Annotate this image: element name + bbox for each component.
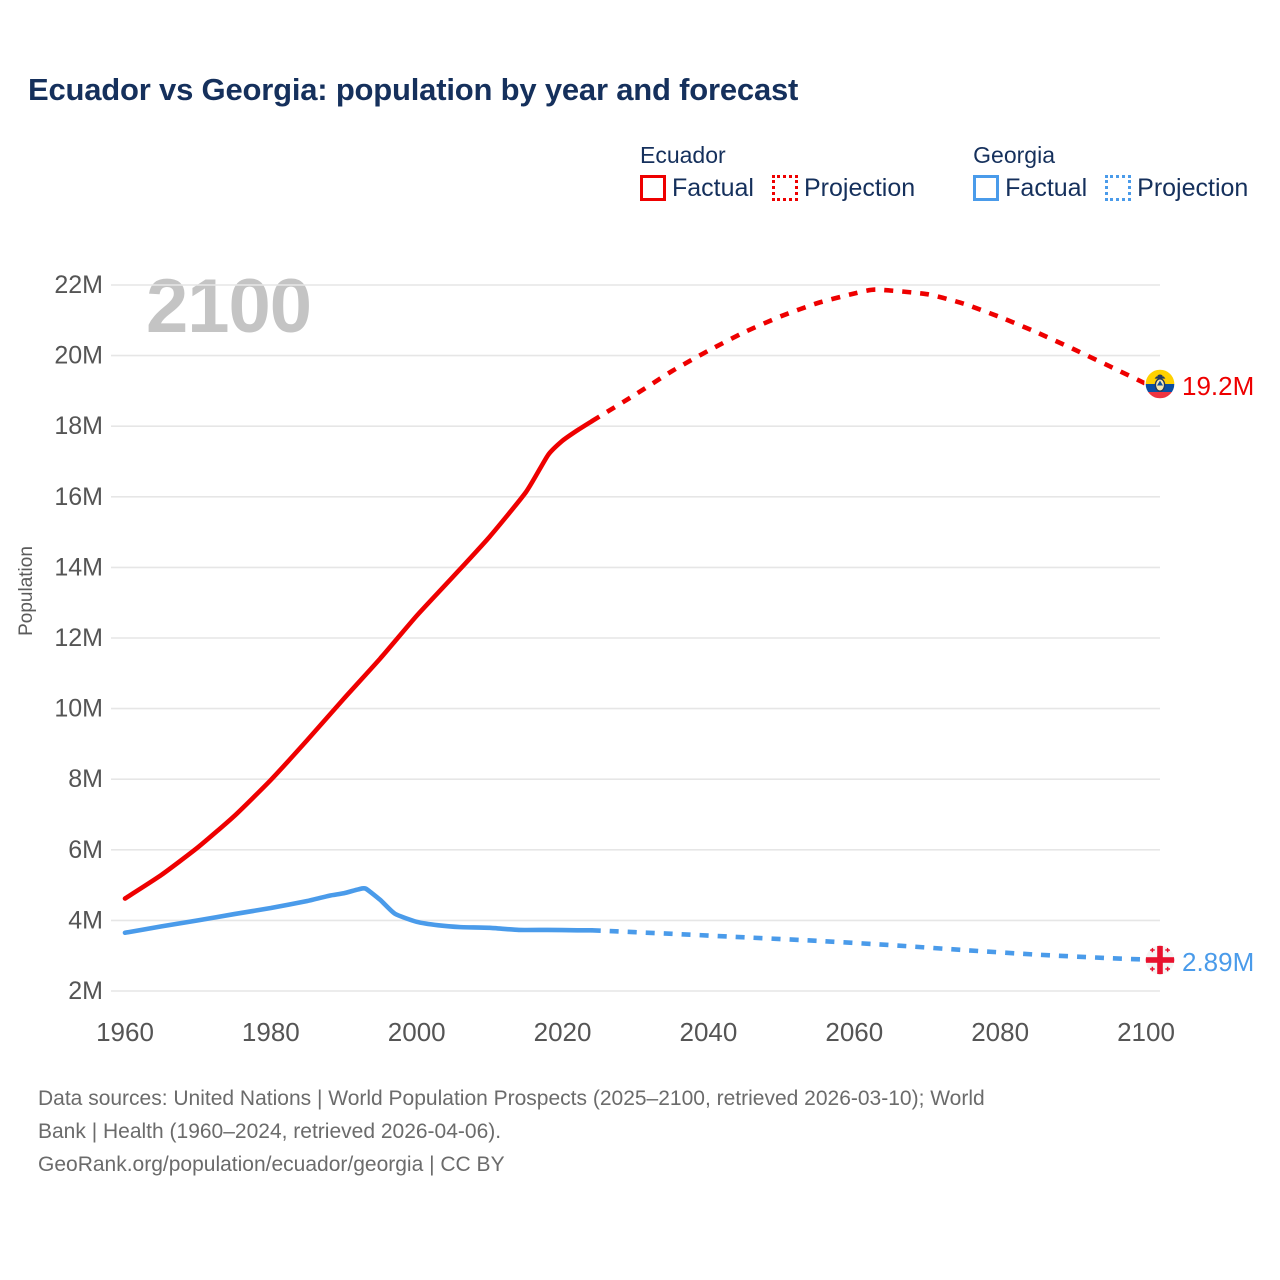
y-axis-tick-label: 16M	[54, 483, 103, 511]
endpoint-georgia: 2.89M	[1144, 944, 1254, 981]
footer-line-2: Bank | Health (1960–2024, retrieved 2026…	[38, 1115, 1238, 1148]
endpoint-ecuador: 19.2M	[1144, 368, 1254, 405]
y-axis-tick-label: 8M	[68, 765, 103, 793]
endpoint-value-ecuador: 19.2M	[1182, 371, 1254, 402]
footer-line-1: Data sources: United Nations | World Pop…	[38, 1082, 1238, 1115]
y-axis-tick-label: 12M	[54, 624, 103, 652]
series-line-georgia-factual	[125, 888, 592, 932]
y-axis-tick-label: 14M	[54, 553, 103, 581]
y-axis-tick-labels: 2M4M6M8M10M12M14M16M18M20M22M	[54, 271, 103, 1005]
x-axis-tick-label: 2000	[388, 1017, 446, 1047]
gridlines	[111, 285, 1160, 991]
footer-sources: Data sources: United Nations | World Pop…	[38, 1082, 1238, 1181]
chart-page: Ecuador vs Georgia: population by year a…	[0, 0, 1280, 1280]
y-axis-tick-label: 2M	[68, 977, 103, 1005]
x-axis-tick-label: 1980	[242, 1017, 300, 1047]
series-lines	[125, 290, 1146, 960]
y-axis-tick-label: 20M	[54, 342, 103, 370]
y-axis-tick-label: 4M	[68, 906, 103, 934]
x-axis-tick-label: 2020	[534, 1017, 592, 1047]
series-line-ecuador-factual	[125, 421, 592, 898]
y-axis-tick-label: 22M	[54, 271, 103, 299]
footer-line-3[interactable]: GeoRank.org/population/ecuador/georgia |…	[38, 1148, 1238, 1181]
series-line-georgia-projection	[592, 930, 1146, 959]
ecuador-flag-icon	[1144, 368, 1176, 405]
x-axis-tick-label: 2060	[825, 1017, 883, 1047]
x-axis-tick-label: 1960	[96, 1017, 154, 1047]
georgia-flag-icon	[1144, 944, 1176, 981]
x-axis-tick-label: 2040	[680, 1017, 738, 1047]
x-axis-tick-label: 2080	[971, 1017, 1029, 1047]
y-axis-tick-label: 10M	[54, 695, 103, 723]
y-axis-tick-label: 18M	[54, 412, 103, 440]
y-axis-tick-label: 6M	[68, 836, 103, 864]
x-axis-tick-labels: 19601980200020202040206020802100	[96, 1017, 1175, 1047]
endpoint-value-georgia: 2.89M	[1182, 947, 1254, 978]
x-axis-tick-label: 2100	[1117, 1017, 1175, 1047]
